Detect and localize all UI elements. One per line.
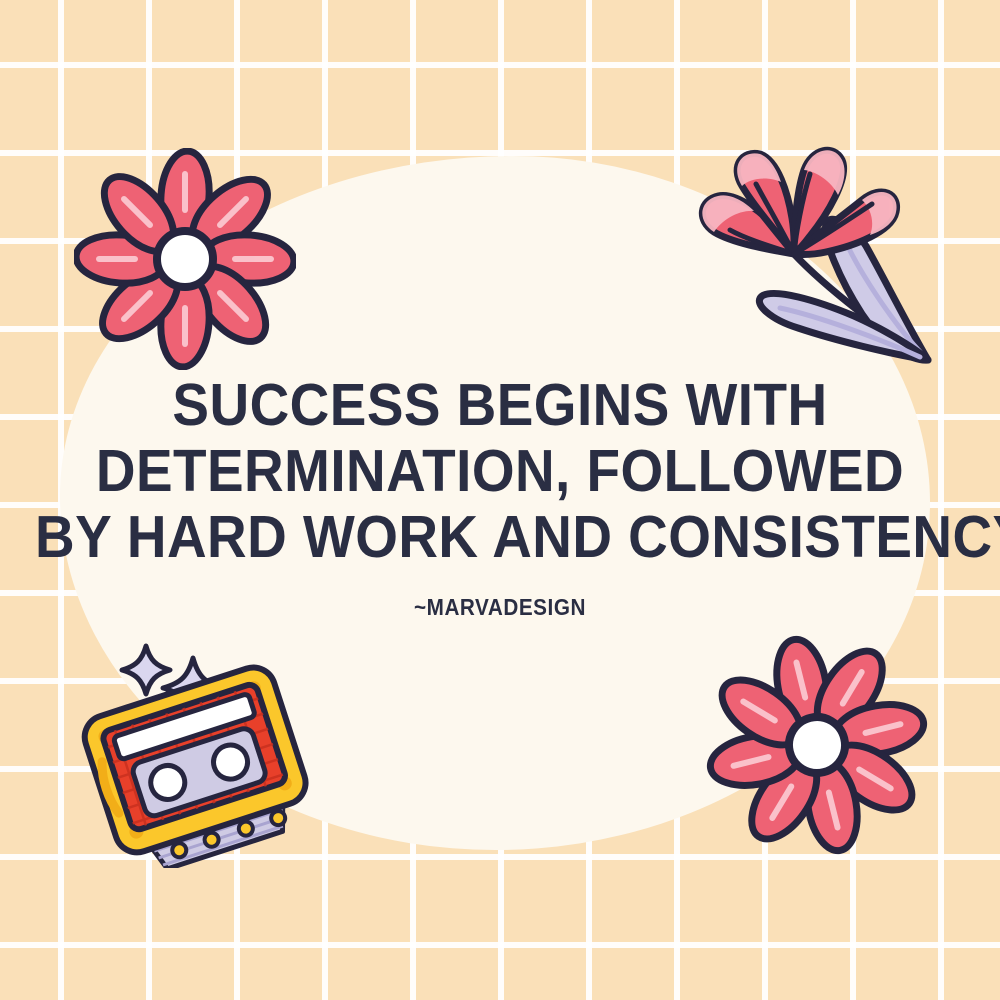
quote-text-block: SUCCESS BEGINS WITH DETERMINATION, FOLLO… (0, 372, 1000, 621)
quote-line-1: SUCCESS BEGINS WITH (35, 372, 965, 438)
poster-canvas: SUCCESS BEGINS WITH DETERMINATION, FOLLO… (0, 0, 1000, 1000)
quote-line-3: BY HARD WORK AND CONSISTENCY (35, 504, 965, 570)
quote-line-2: DETERMINATION, FOLLOWED (35, 438, 965, 504)
attribution-text: ~MARVADESIGN (50, 594, 950, 621)
